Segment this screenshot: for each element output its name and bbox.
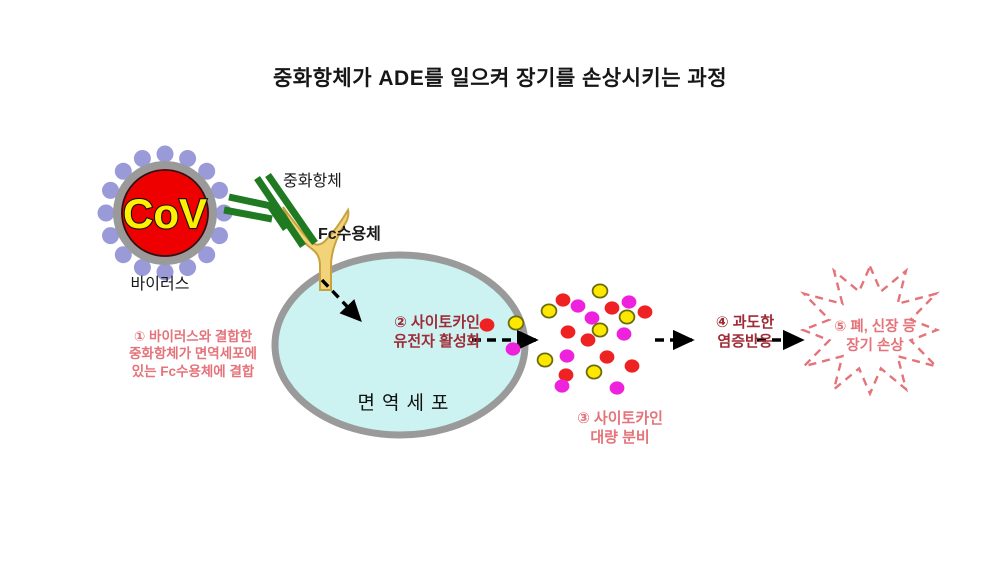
immune-cell-label: 면역세포 bbox=[318, 392, 488, 416]
cytokine-dot-magenta bbox=[622, 295, 637, 308]
diagram-canvas: CoV 중화항체가 ADE를 일으켜 장기를 손 bbox=[0, 0, 1000, 562]
cytokine-dot-magenta bbox=[555, 379, 570, 392]
cytokine-dot-red bbox=[638, 305, 653, 318]
step-5-label: ⑤ 폐, 신장 등 장기 손상 bbox=[810, 318, 940, 355]
cytokine-dot-red bbox=[581, 333, 596, 346]
step-3-label: ③ 사이토카인 대량 분비 bbox=[545, 409, 695, 447]
cytokine-dot-yellow bbox=[593, 323, 608, 336]
cytokine-dot-yellow bbox=[593, 284, 608, 297]
cytokine-dot-magenta bbox=[560, 349, 575, 362]
step-4-label: ④ 과도한 염증반응 bbox=[690, 313, 800, 351]
cytokine-dot-yellow bbox=[620, 310, 635, 323]
cytokine-dot-yellow bbox=[587, 365, 602, 378]
cytokine-dot-magenta bbox=[571, 299, 586, 312]
virus-particle: CoV bbox=[98, 146, 233, 281]
cytokine-dot-red bbox=[605, 301, 620, 314]
virus-label: 바이러스 bbox=[95, 275, 225, 295]
cytokine-dot-magenta bbox=[585, 311, 600, 324]
cytokine-dot-red bbox=[600, 350, 615, 363]
cytokine-dot-magenta bbox=[610, 381, 625, 394]
step-2-label: ② 사이토카인 유전자 활성화 bbox=[362, 313, 512, 351]
fc-receptor-label: Fc수용체 bbox=[318, 225, 381, 245]
cytokine-dot-red bbox=[561, 325, 576, 338]
cytokine-dot-red bbox=[556, 293, 571, 306]
cytokine-dot-yellow bbox=[538, 353, 553, 366]
cytokine-dot-magenta bbox=[617, 327, 632, 340]
step-1-label: ① 바이러스와 결합한 중화항체가 면역세포에 있는 Fc수용체에 결합 bbox=[108, 328, 278, 380]
antibody-label: 중화항체 bbox=[283, 172, 342, 192]
cytokine-dot-yellow bbox=[542, 304, 557, 317]
page-title: 중화항체가 ADE를 일으켜 장기를 손상시키는 과정 bbox=[0, 66, 1000, 93]
virus-core-label: CoV bbox=[123, 190, 207, 237]
cytokine-dot-red bbox=[625, 359, 640, 372]
